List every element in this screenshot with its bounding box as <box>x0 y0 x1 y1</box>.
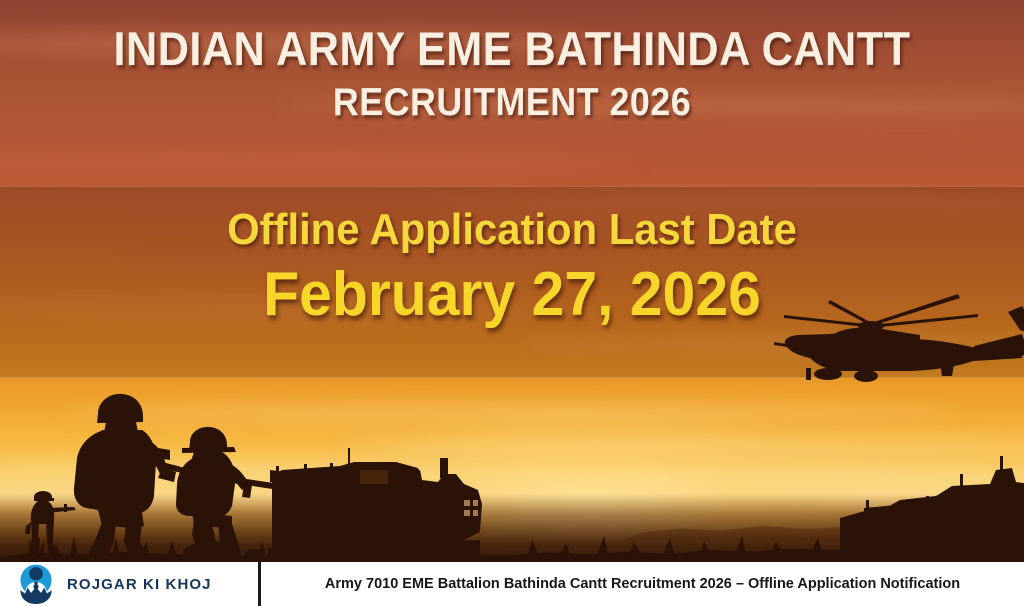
footer-bar: ROJGAR KI KHOJ Army 7010 EME Battalion B… <box>0 562 1024 606</box>
last-date-block: Offline Application Last Date February 2… <box>0 205 1024 331</box>
page-title-line-2: RECRUITMENT 2026 <box>41 79 983 128</box>
grass-and-debris-silhouette <box>0 522 1024 566</box>
person-in-circle-logo-icon <box>14 560 58 604</box>
banner-heading: INDIAN ARMY EME BATHINDA CANTT RECRUITME… <box>0 24 1024 128</box>
footer-caption: Army 7010 EME Battalion Bathinda Cantt R… <box>261 576 1024 592</box>
page-title-line-1: INDIAN ARMY EME BATHINDA CANTT <box>41 24 983 73</box>
brand-block[interactable]: ROJGAR KI KHOJ <box>0 562 258 606</box>
last-date-label: Offline Application Last Date <box>26 205 999 254</box>
band-top-rule <box>0 186 1024 187</box>
recruitment-banner: INDIAN ARMY EME BATHINDA CANTT RECRUITME… <box>0 0 1024 606</box>
last-date-value: February 27, 2026 <box>26 258 999 331</box>
brand-name-label: ROJGAR KI KHOJ <box>67 576 212 593</box>
